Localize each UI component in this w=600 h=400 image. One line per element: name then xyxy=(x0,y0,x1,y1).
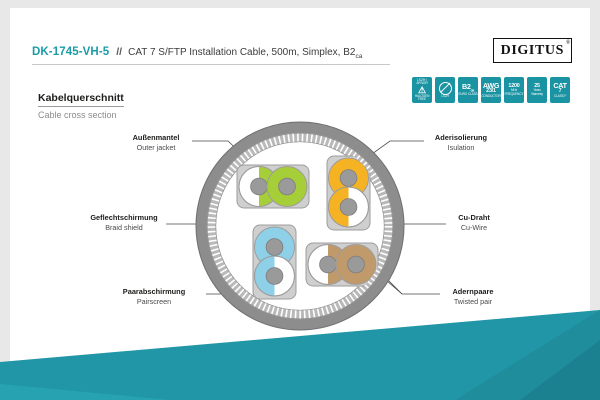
copper-conductor xyxy=(340,199,357,216)
copper-conductor xyxy=(279,178,296,195)
callout-label-en: Outer jacket xyxy=(110,143,202,152)
callout-pairscreen: Paarabschirmung Pairscreen xyxy=(102,287,206,306)
callout-label-de: Paarabschirmung xyxy=(102,287,206,296)
footer-band xyxy=(0,310,600,400)
datasheet-page: DK-1745-VH-5 // CAT 7 S/FTP Installation… xyxy=(0,0,600,400)
copper-conductor xyxy=(251,178,268,195)
blue-pair xyxy=(253,225,296,299)
callout-label-de: Geflechtschirmung xyxy=(70,213,178,222)
callout-label-en: Braid shield xyxy=(70,223,178,232)
orange-pair xyxy=(327,156,370,230)
callout-label-de: Aderisolierung xyxy=(415,133,507,142)
callout-insulation: Aderisolierung Isulation xyxy=(415,133,507,152)
copper-conductor xyxy=(348,256,365,273)
copper-conductor xyxy=(320,256,337,273)
callout-cu-wire: Cu-Draht Cu-Wire xyxy=(438,213,510,232)
callout-label-en: Twisted pair xyxy=(429,297,517,306)
green-pair xyxy=(237,165,309,208)
callout-braid-shield: Geflechtschirmung Braid shield xyxy=(70,213,178,232)
callout-twisted-pair: Adernpaare Twisted pair xyxy=(429,287,517,306)
callout-label-de: Cu-Draht xyxy=(438,213,510,222)
callout-label-de: Adernpaare xyxy=(429,287,517,296)
copper-conductor xyxy=(340,170,357,187)
callout-label-en: Pairscreen xyxy=(102,297,206,306)
brown-pair xyxy=(306,243,378,286)
callout-label-en: Cu-Wire xyxy=(438,223,510,232)
callout-label-en: Isulation xyxy=(415,143,507,152)
copper-conductor xyxy=(266,239,283,256)
callout-label-de: Außenmantel xyxy=(110,133,202,142)
copper-conductor xyxy=(266,268,283,285)
callout-outer-jacket: Außenmantel Outer jacket xyxy=(110,133,202,152)
